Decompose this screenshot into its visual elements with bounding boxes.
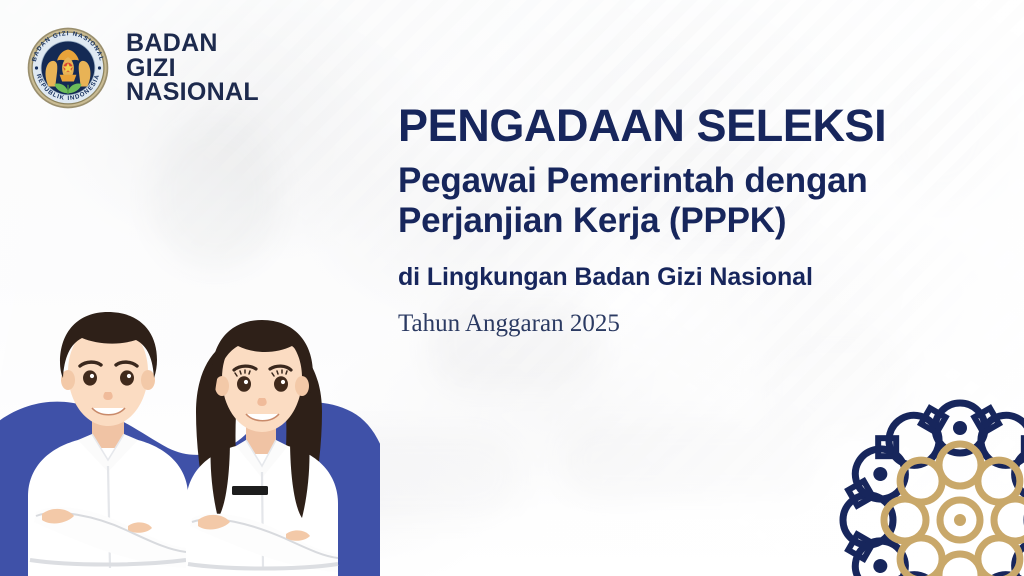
logo-wordmark: BADAN GIZI NASIONAL [126,31,259,105]
poster-canvas: BADAN GIZI NASIONAL REPUBLIK INDONESIA [0,0,1024,576]
subtitle-line-2: Perjanjian Kerja (PPPK) [398,201,998,241]
headline-subtitle: Pegawai Pemerintah dengan Perjanjian Ker… [398,161,998,241]
department-label: di Lingkungan Badan Gizi Nasional [398,262,998,292]
two-staff-characters-illustration [0,216,380,576]
headline-block: PENGADAAN SELEKSI Pegawai Pemerintah den… [398,103,998,339]
logo-lockup: BADAN GIZI NASIONAL REPUBLIK INDONESIA [26,26,259,110]
female-staff-character [186,320,338,576]
budget-year-label: Tahun Anggaran 2025 [398,309,998,339]
wordmark-line-1: BADAN [126,31,259,56]
subtitle-line-1: Pegawai Pemerintah dengan [398,161,998,201]
wordmark-line-2: GIZI [126,56,259,81]
batik-mandala-ornament [830,390,1024,576]
badan-gizi-nasional-seal-icon: BADAN GIZI NASIONAL REPUBLIK INDONESIA [26,26,110,110]
page-title: PENGADAAN SELEKSI [398,103,998,150]
name-tag [232,486,268,495]
wordmark-line-3: NASIONAL [126,80,259,105]
